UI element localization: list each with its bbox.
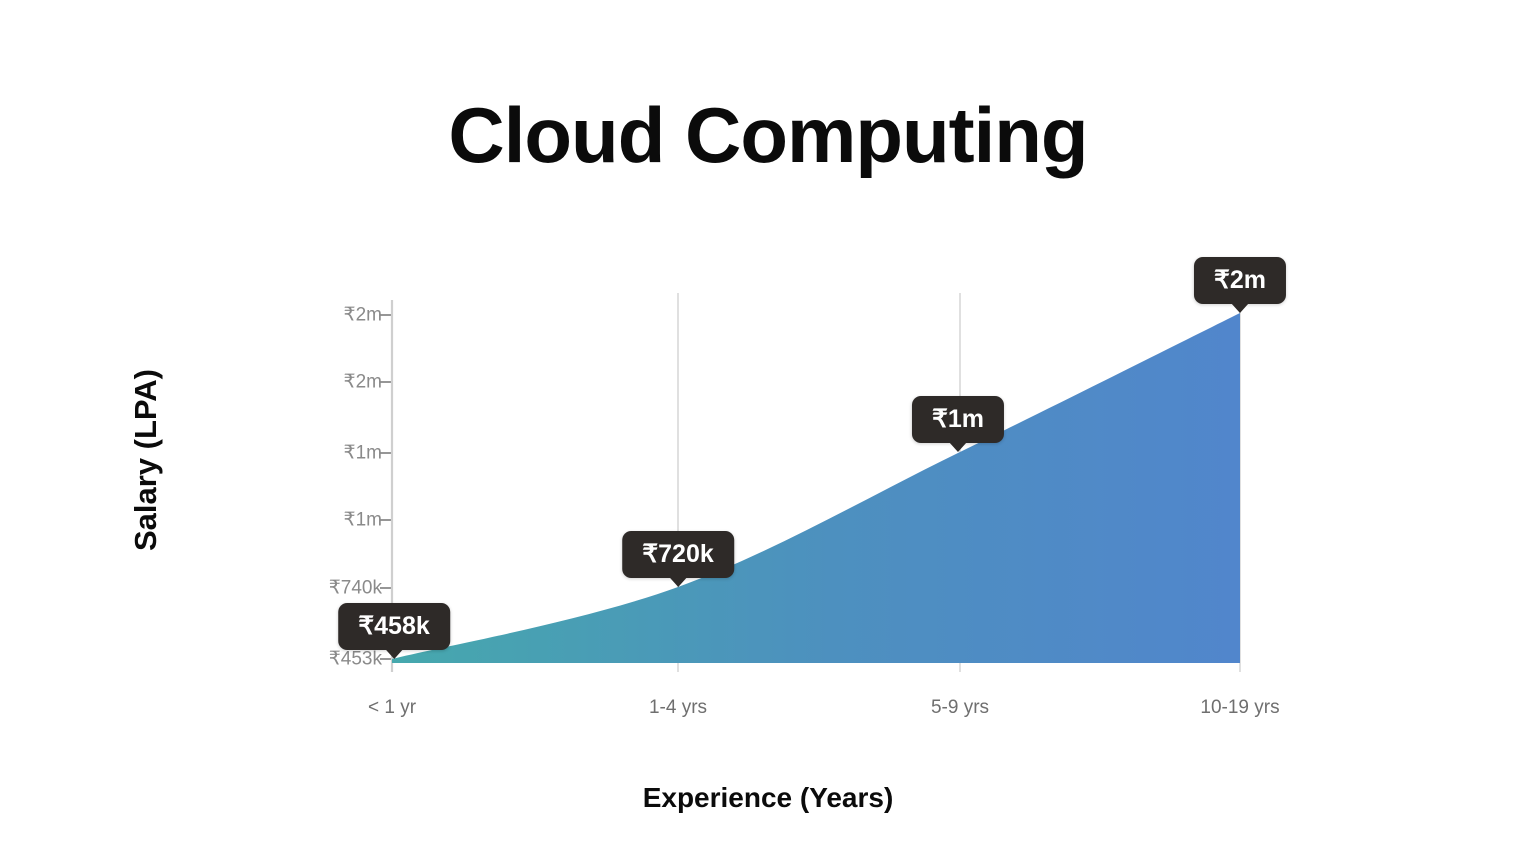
y-tick-label: ₹2m [344,371,382,394]
grid-lines [678,293,1240,672]
tooltip-value: ₹458k [358,612,430,640]
y-tick-label: ₹1m [344,509,382,532]
x-tick-label: 5-9 yrs [931,697,989,719]
y-axis-title: Salary (LPA) [128,330,164,590]
tooltip-arrow-icon [1231,303,1249,313]
data-point-tooltip[interactable]: ₹458k [338,603,450,650]
y-tick-label: ₹453k [329,648,382,671]
area-series [392,313,1240,663]
y-axis-ticks: ₹2m ₹2m ₹1m ₹1m ₹740k ₹453k [300,0,382,864]
x-tick-label: 1-4 yrs [649,697,707,719]
tooltip-value: ₹2m [1214,266,1266,294]
tooltip-arrow-icon [385,649,403,659]
tooltip-value: ₹1m [932,405,984,433]
tooltip-value: ₹720k [642,540,714,568]
chart-title: Cloud Computing [0,96,1536,174]
y-tick-label: ₹2m [344,304,382,327]
tooltip-arrow-icon [949,442,967,452]
y-tick-label: ₹1m [344,442,382,465]
data-point-tooltip[interactable]: ₹720k [622,531,734,578]
x-tick-label: 10-19 yrs [1200,697,1279,719]
data-point-tooltip[interactable]: ₹1m [912,396,1004,443]
tooltip-arrow-icon [669,577,687,587]
chart-canvas: Cloud Computing Salary (LPA) Experience … [0,0,1536,864]
x-tick-label: < 1 yr [368,697,416,719]
data-point-tooltip[interactable]: ₹2m [1194,257,1286,304]
y-tick-label: ₹740k [329,577,382,600]
x-axis-title: Experience (Years) [0,782,1536,814]
